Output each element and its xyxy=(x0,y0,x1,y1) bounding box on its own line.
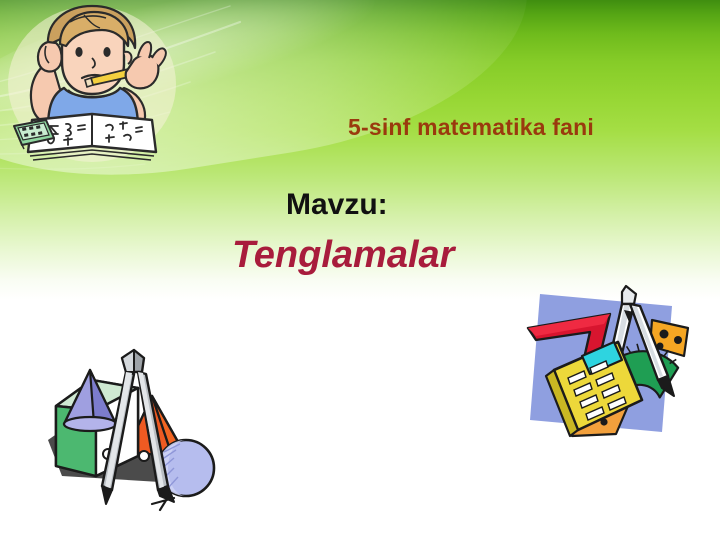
geometric-solids-illustration xyxy=(34,344,230,516)
boy-studying-illustration xyxy=(6,2,178,162)
slide-canvas: 5-sinf matematika fani Mavzu: Tenglamala… xyxy=(0,0,720,540)
subject-line: 5-sinf matematika fani xyxy=(348,114,594,141)
topic-title: Tenglamalar xyxy=(232,234,454,277)
math-tools-illustration xyxy=(512,284,692,452)
topic-label: Mavzu: xyxy=(286,188,388,222)
